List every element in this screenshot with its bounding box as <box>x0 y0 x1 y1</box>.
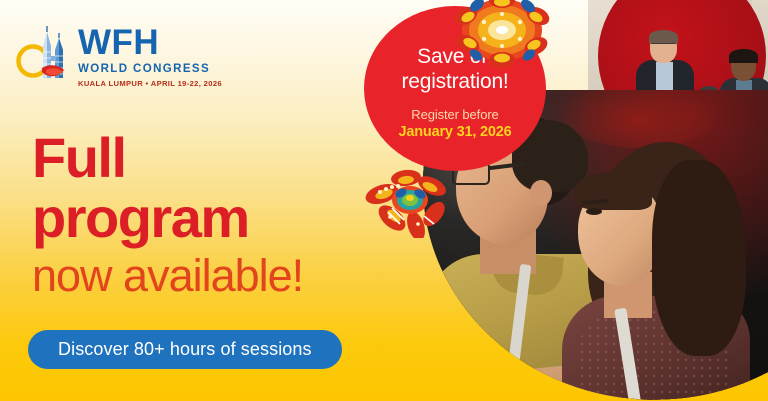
attendee-hair <box>729 49 758 63</box>
headline-line-2: program <box>32 188 392 248</box>
male-attendee-ear <box>530 180 552 206</box>
logo-city-dates-text: KUALA LUMPUR • APRIL 19-22, 2026 <box>78 78 228 89</box>
female-attendee-hair-back <box>652 160 746 356</box>
logo-wordmark: WFH WORLD CONGRESS KUALA LUMPUR • APRIL … <box>78 25 228 89</box>
female-attendee-figure <box>560 142 750 401</box>
badge-deadline-date: January 31, 2026 <box>399 123 512 141</box>
badge-subtitle: Register before <box>411 106 498 123</box>
page-title: Full program now available! <box>32 128 392 303</box>
male-attendee-watch <box>508 386 541 401</box>
headline-line-3: now available! <box>32 249 392 303</box>
speaker-hair <box>649 30 678 43</box>
headline-line-1: Full <box>32 128 392 188</box>
wfh-world-congress-logo[interactable]: WFH WORLD CONGRESS KUALA LUMPUR • APRIL … <box>12 24 227 86</box>
wfh-petronas-towers-logo-icon <box>12 24 80 86</box>
discover-sessions-button[interactable]: Discover 80+ hours of sessions <box>28 330 342 369</box>
cta-button-label: Discover 80+ hours of sessions <box>58 339 312 360</box>
batik-flower-ornament <box>446 0 558 70</box>
male-attendee-badge <box>505 374 541 401</box>
logo-world-congress-text: WORLD CONGRESS <box>78 62 228 76</box>
logo-wfh-text: WFH <box>78 25 228 61</box>
speaker-glasses <box>651 43 676 48</box>
female-attendee-eye <box>586 208 602 215</box>
wfh-congress-promo-banner: Save on registration! Register before Ja… <box>0 0 768 401</box>
